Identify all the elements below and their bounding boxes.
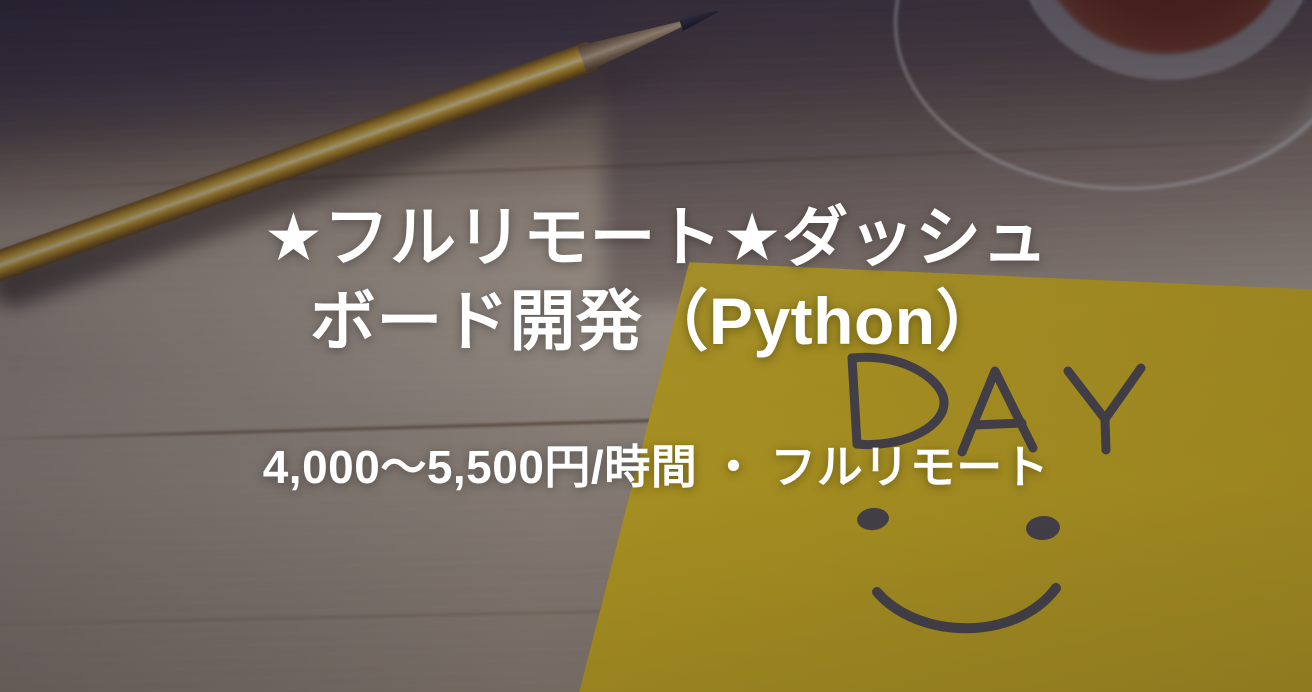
og-image-card: ★フルリモート★ダッシュボード開発（Python） 4,000〜5,500円/時… xyxy=(0,0,1312,692)
page-subtitle: 4,000〜5,500円/時間 ・ フルリモート xyxy=(263,438,1050,498)
text-content: ★フルリモート★ダッシュボード開発（Python） 4,000〜5,500円/時… xyxy=(0,0,1312,692)
page-title: ★フルリモート★ダッシュボード開発（Python） xyxy=(256,195,1056,364)
